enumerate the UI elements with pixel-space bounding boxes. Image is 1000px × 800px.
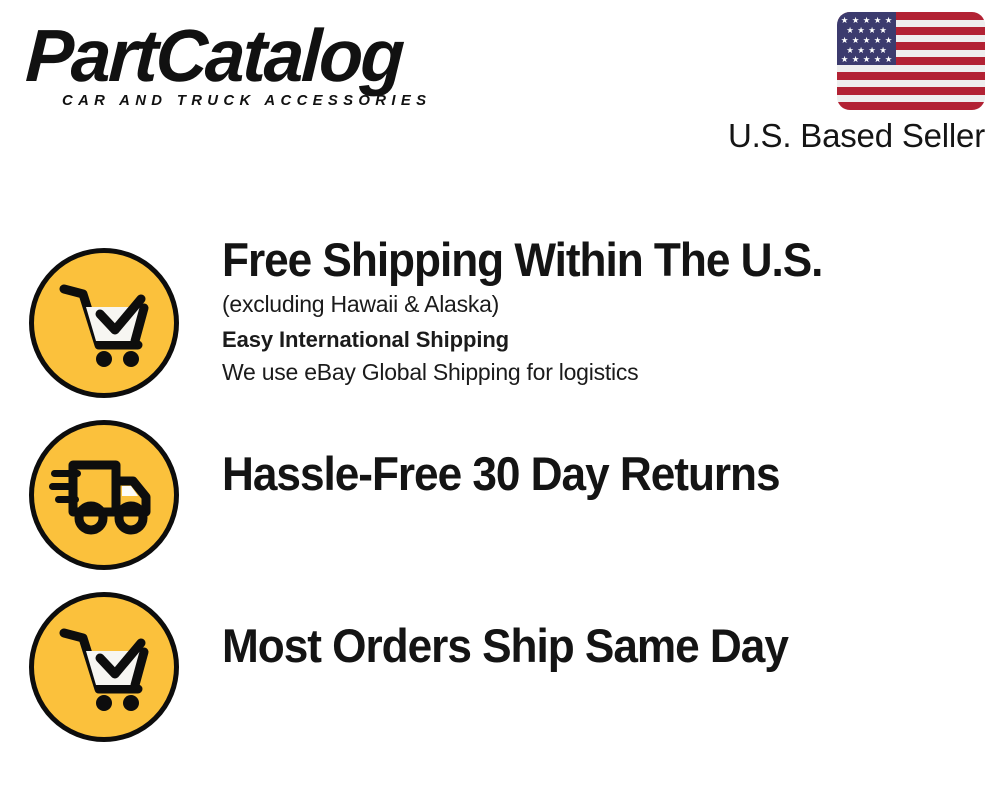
flag-stripe [837, 72, 985, 80]
feature-text-cell: Free Shipping Within The U.S. (excluding… [200, 232, 1000, 388]
flag-stripe [837, 65, 985, 73]
feature-row: Hassle-Free 30 Day Returns [0, 412, 1000, 574]
feature-icon-badge [29, 248, 179, 398]
banner-header: PartCatalog CAR AND TRUCK ACCESSORIES [0, 0, 1000, 180]
flag-stripe [837, 95, 985, 103]
feature-title: Free Shipping Within The U.S. [222, 232, 953, 288]
feature-subline: We use eBay Global Shipping for logistic… [222, 356, 1000, 388]
feature-icon-cell [0, 584, 200, 742]
feature-icon-badge [29, 420, 179, 570]
brand-logo: PartCatalog CAR AND TRUCK ACCESSORIES [26, 22, 496, 109]
feature-row: Most Orders Ship Same Day [0, 584, 1000, 744]
shipping-info-banner: PartCatalog CAR AND TRUCK ACCESSORIES [0, 0, 1000, 800]
us-based-seller-label: U.S. Based Seller [728, 116, 985, 156]
shopping-cart-check-icon [52, 621, 156, 713]
feature-text-cell: Hassle-Free 30 Day Returns [200, 412, 1000, 502]
feature-subline-bold: Easy International Shipping [222, 324, 1000, 356]
feature-row: Free Shipping Within The U.S. (excluding… [0, 232, 1000, 402]
us-flag-badge: ★ ★ ★ ★ ★ ★ ★ ★ ★ ★ ★ ★ ★ ★ [837, 12, 985, 110]
brand-wordmark: PartCatalog [24, 22, 483, 90]
feature-text-cell: Most Orders Ship Same Day [200, 584, 1000, 674]
feature-icon-cell [0, 232, 200, 398]
feature-icon-cell [0, 412, 200, 570]
feature-title: Hassle-Free 30 Day Returns [222, 446, 953, 502]
feature-title: Most Orders Ship Same Day [222, 618, 953, 674]
feature-icon-badge [29, 592, 179, 742]
delivery-truck-icon [49, 452, 159, 538]
flag-stripe [837, 87, 985, 95]
flag-canton: ★ ★ ★ ★ ★ ★ ★ ★ ★ ★ ★ ★ ★ ★ [837, 12, 896, 65]
flag-stripe [837, 102, 985, 110]
brand-tagline: CAR AND TRUCK ACCESSORIES [62, 92, 492, 109]
flag-stripe [837, 80, 985, 88]
shopping-cart-check-icon [52, 277, 156, 369]
feature-subline: (excluding Hawaii & Alaska) [222, 288, 1000, 320]
us-flag-icon: ★ ★ ★ ★ ★ ★ ★ ★ ★ ★ ★ ★ ★ ★ [837, 12, 985, 110]
